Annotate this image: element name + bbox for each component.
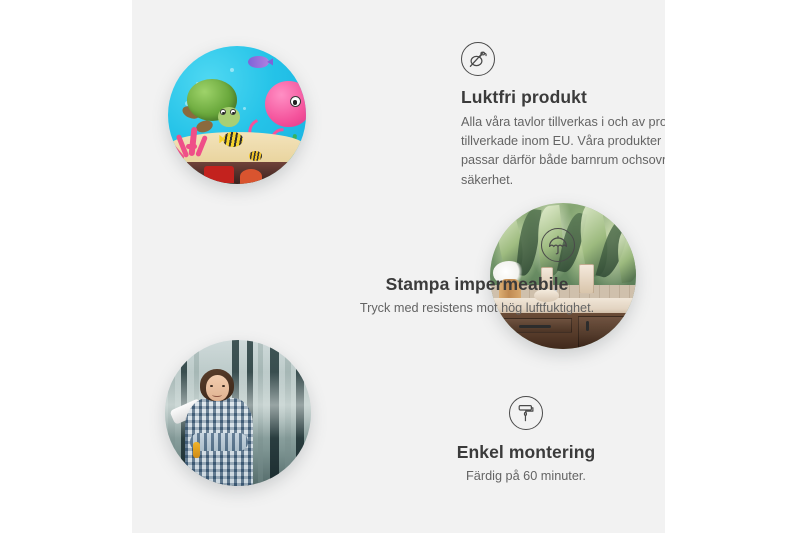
feature-title: Stampa impermeabile [347,273,607,296]
product-feature-panel: Luktfri produkt Alla våra tavlor tillver… [0,0,800,533]
feature-description: Alla våra tavlor tillverkas i och av pro… [461,113,665,190]
feature-image-odourless [168,46,306,184]
woman-painter-photo [165,340,311,486]
feature-waterproof: Stampa impermeabile Tryck med resistens … [347,228,607,318]
feature-title: Luktfri produkt [461,86,665,109]
feature-odourless: Luktfri produkt Alla våra tavlor tillver… [461,42,665,190]
paint-roller-icon [509,396,543,430]
feature-image-easy-mounting [165,340,311,486]
feature-description: Tryck med resistens mot hög luftfuktighe… [347,299,607,318]
woman-face [206,375,229,401]
umbrella-icon [541,228,575,262]
feature-easy-mounting: Enkel montering Färdig på 60 minuter. [418,396,634,486]
coral [174,125,215,166]
feature-description: Färdig på 60 minuter. [418,467,634,486]
feature-title: Enkel montering [418,441,634,464]
content-panel: Luktfri produkt Alla våra tavlor tillver… [132,0,665,533]
underwater-illustration [168,46,306,184]
no-fragrance-icon [461,42,495,76]
